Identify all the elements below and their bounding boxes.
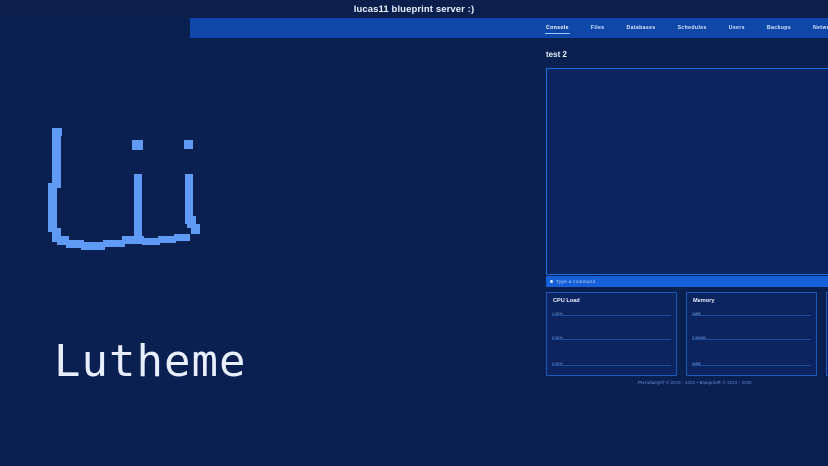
- nav-item-schedules-label: Schedules: [678, 25, 707, 31]
- footer-blueprint-link[interactable]: Blueprint®: [700, 380, 722, 385]
- console-input-placeholder: Type a command: [556, 279, 595, 284]
- stat-card-memory-title: Memory: [693, 298, 714, 304]
- console-prompt-icon: [550, 280, 553, 283]
- gridline: 1.00%: [552, 315, 671, 316]
- gridline: 0.00%: [552, 365, 671, 366]
- footer-separator: •: [697, 380, 699, 385]
- lutheme-u-umlaut-pixel-logo-icon: [48, 128, 228, 288]
- axis-label: 0.50%: [552, 336, 563, 340]
- footer-pterodactyl-link[interactable]: Pterodactyl®: [638, 380, 664, 385]
- nav-item-network[interactable]: Network: [812, 23, 828, 34]
- window-title: lucas11 blueprint server :): [354, 4, 474, 15]
- nav-item-databases-label: Databases: [627, 25, 656, 31]
- nav-item-databases[interactable]: Databases: [626, 23, 657, 34]
- nav-item-schedules[interactable]: Schedules: [677, 23, 708, 34]
- brand-panel: Lutheme: [0, 38, 530, 466]
- stat-card-memory: Memory 1MiB 0.50MiB 0MiB: [686, 292, 817, 376]
- nav-item-files[interactable]: Files: [590, 23, 606, 34]
- page-footer: Pterodactyl® © 2015 - 2025 • Blueprint® …: [546, 380, 828, 385]
- resource-stat-cards: CPU Load 1.00% 0.50% 0.00% Memory 1MiB: [546, 292, 828, 376]
- axis-label: 1.00%: [552, 312, 563, 316]
- footer-blueprint-years: © 2023 - 2025: [723, 380, 752, 385]
- nav-item-console-label: Console: [546, 25, 569, 31]
- nav-item-network-label: Network: [813, 25, 828, 31]
- stat-card-cpu-load: CPU Load 1.00% 0.50% 0.00%: [546, 292, 677, 376]
- axis-label: 0MiB: [692, 362, 701, 366]
- axis-label: 1MiB: [692, 312, 701, 316]
- gridline: 0.50%: [552, 339, 671, 340]
- main-navigation: Console Files Databases Schedules Users …: [190, 18, 828, 38]
- axis-label: 0.50MiB: [692, 336, 706, 340]
- stat-card-cpu-load-plot: 1.00% 0.50% 0.00%: [552, 309, 671, 369]
- nav-item-users[interactable]: Users: [728, 23, 746, 34]
- footer-pterodactyl-years: © 2015 - 2025: [666, 380, 695, 385]
- server-name: test 2: [546, 50, 567, 59]
- server-panel: test 2 Type a command CPU Load 1.00% 0.5…: [530, 38, 828, 466]
- gridline: 1MiB: [692, 315, 811, 316]
- gridline: 0.50MiB: [692, 339, 811, 340]
- nav-item-files-label: Files: [591, 25, 605, 31]
- nav-item-users-label: Users: [729, 25, 745, 31]
- nav-item-backups[interactable]: Backups: [766, 23, 792, 34]
- brand-wordmark: Lutheme: [54, 340, 246, 384]
- console-output: [546, 68, 828, 275]
- window-titlebar: lucas11 blueprint server :): [0, 0, 828, 18]
- stat-card-memory-plot: 1MiB 0.50MiB 0MiB: [692, 309, 811, 369]
- nav-item-console[interactable]: Console: [545, 23, 570, 34]
- nav-item-backups-label: Backups: [767, 25, 791, 31]
- gridline: 0MiB: [692, 365, 811, 366]
- stat-card-cpu-load-title: CPU Load: [553, 298, 580, 304]
- axis-label: 0.00%: [552, 362, 563, 366]
- console-command-input[interactable]: Type a command: [546, 276, 828, 287]
